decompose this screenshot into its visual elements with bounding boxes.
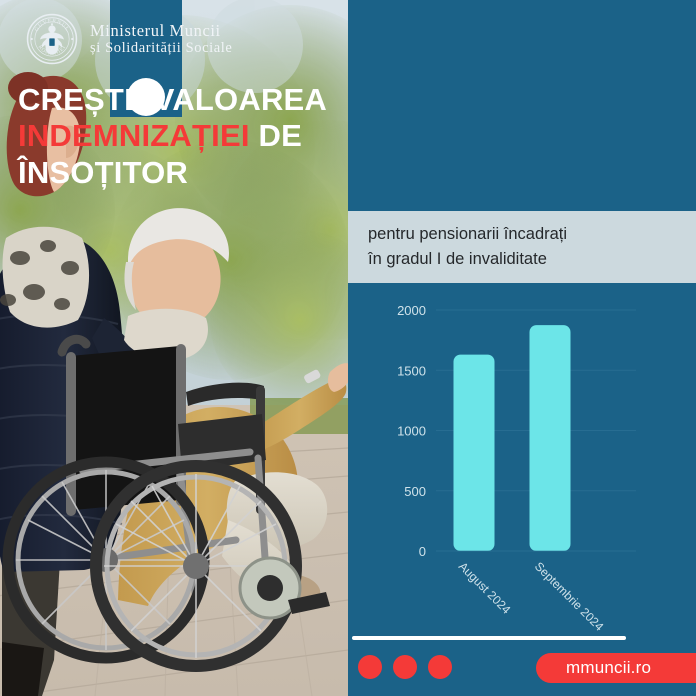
website-pill[interactable]: mmuncii.ro bbox=[536, 653, 696, 683]
y-tick-label: 1000 bbox=[397, 424, 426, 439]
ministry-lockup: GUVERNUL ROMÂNIEI Ministerul Muncii și S… bbox=[26, 8, 326, 70]
headline-line-1: CREȘTE VALOAREA bbox=[18, 82, 340, 118]
y-tick-label: 500 bbox=[404, 484, 426, 499]
headline-highlight: INDEMNIZAȚIEI bbox=[18, 118, 250, 153]
headline: CREȘTE VALOAREA INDEMNIZAȚIEI DE ÎNSOȚIT… bbox=[18, 82, 340, 191]
headline-line-2-rest: DE bbox=[258, 118, 301, 153]
infographic-poster: GUVERNUL ROMÂNIEI Ministerul Muncii și S… bbox=[0, 0, 696, 696]
government-crest-icon: GUVERNUL ROMÂNIEI bbox=[26, 13, 78, 65]
y-tick-label: 2000 bbox=[397, 303, 426, 318]
bar bbox=[530, 325, 571, 551]
footer-dot bbox=[358, 655, 382, 679]
x-tick-label: Septembrie 2024 bbox=[532, 559, 607, 634]
bar-chart: 0500100015002000August 2024Septembrie 20… bbox=[348, 290, 696, 640]
ministry-line-1: Ministerul Muncii bbox=[90, 21, 232, 40]
footer-divider bbox=[352, 636, 626, 640]
ministry-name: Ministerul Muncii și Solidarității Socia… bbox=[90, 21, 232, 58]
bar bbox=[454, 355, 495, 551]
subtitle-line-2: în gradul I de invaliditate bbox=[368, 247, 696, 272]
y-tick-label: 1500 bbox=[397, 363, 426, 378]
y-tick-label: 0 bbox=[419, 544, 426, 559]
ministry-line-2: și Solidarității Sociale bbox=[90, 40, 232, 57]
subtitle-line-1: pentru pensionarii încadrați bbox=[368, 222, 696, 247]
footer-dot bbox=[428, 655, 452, 679]
headline-line-3: ÎNSOȚITOR bbox=[18, 155, 340, 191]
footer-dots bbox=[358, 655, 452, 679]
subtitle-band: pentru pensionarii încadrați în gradul I… bbox=[348, 211, 696, 283]
footer-dot bbox=[393, 655, 417, 679]
x-tick-label: August 2024 bbox=[456, 559, 514, 617]
headline-line-2: INDEMNIZAȚIEI DE bbox=[18, 118, 340, 154]
website-url: mmuncii.ro bbox=[566, 658, 651, 678]
